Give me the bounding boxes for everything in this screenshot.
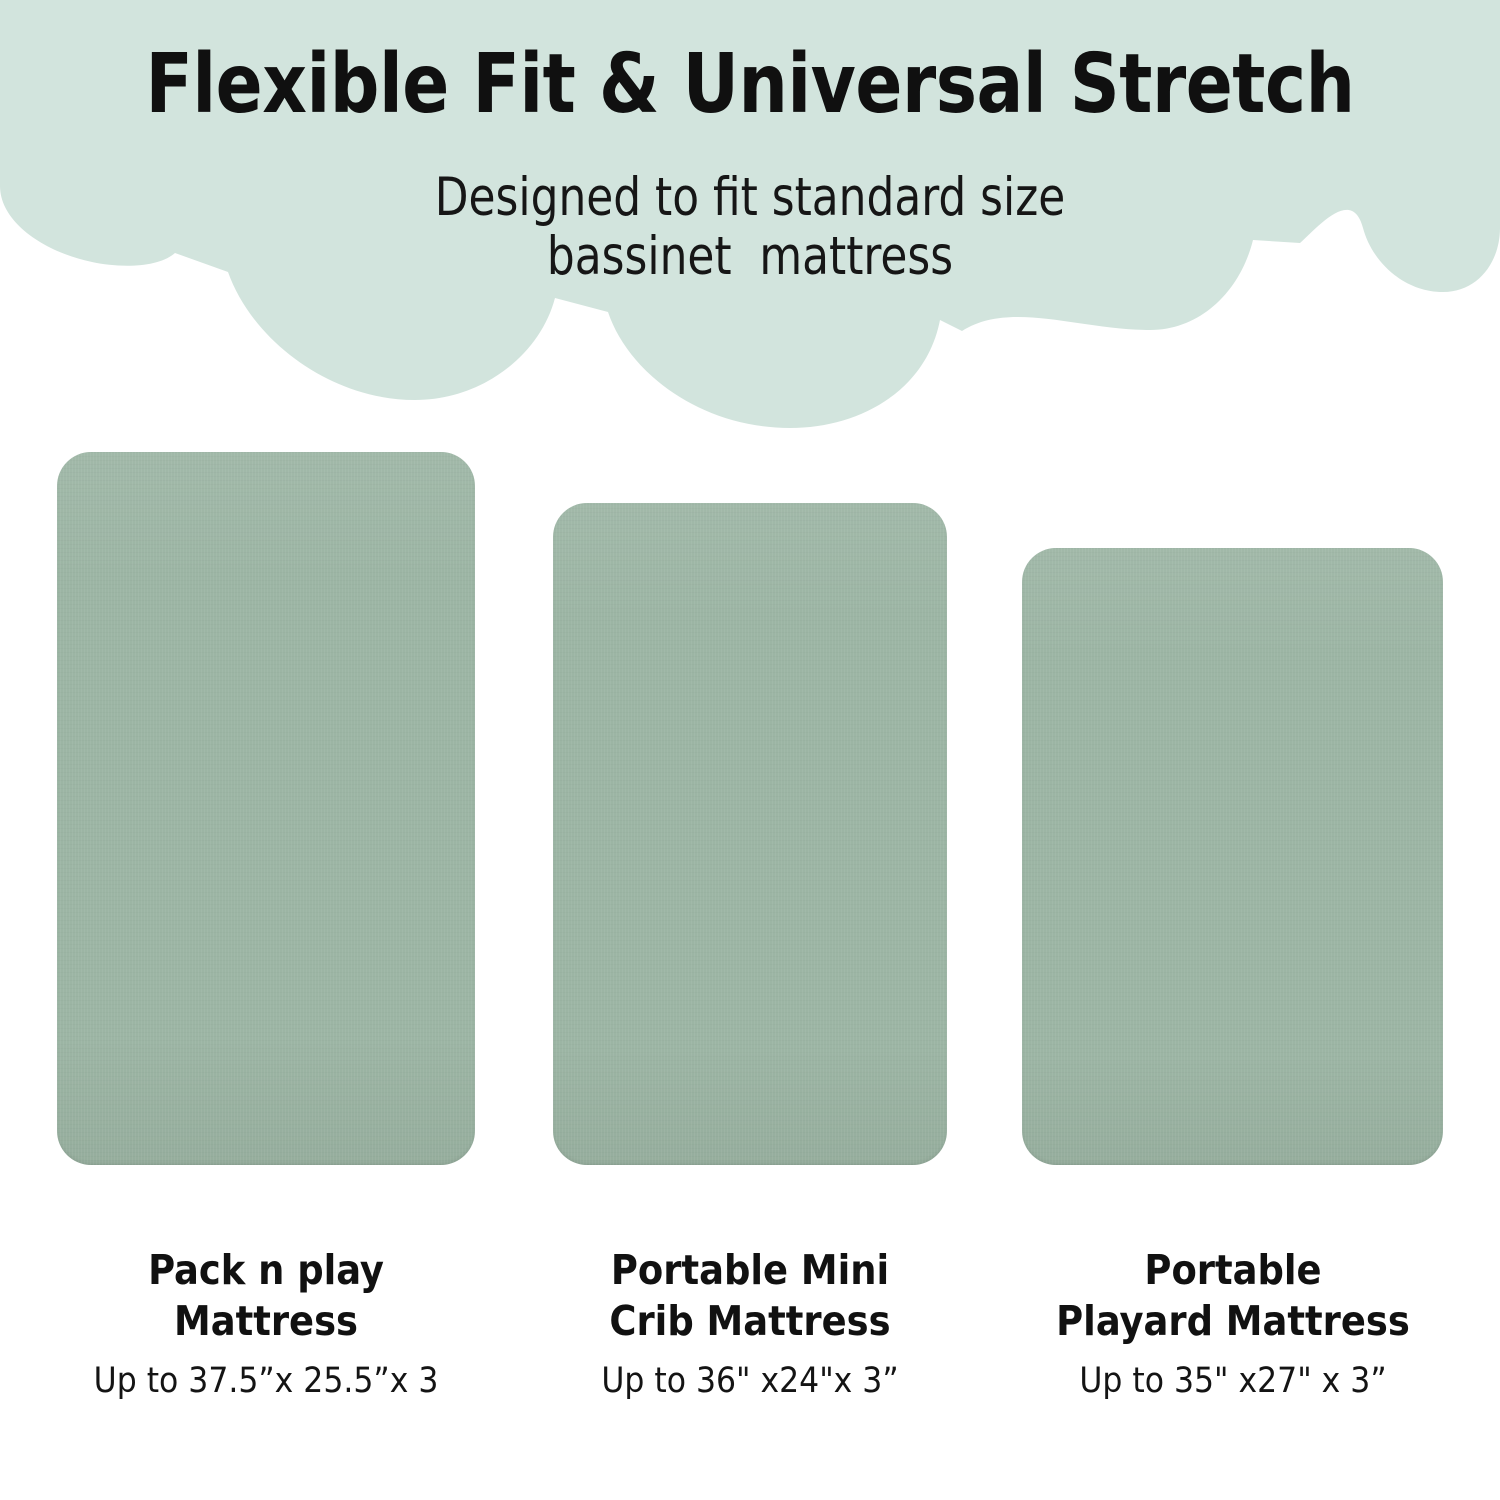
mattress-comparison-row: Pack n play Mattress Up to 37.5”x 25.5”x… [0,0,1500,1500]
mattress-label-pack-n-play: Pack n play Mattress [36,1245,496,1347]
mattress-size-pack-n-play: Up to 37.5”x 25.5”x 3 [36,1360,496,1402]
mattress-swatch-portable-mini-crib [553,503,947,1165]
mattress-label-portable-playard: Portable Playard Mattress [1002,1245,1464,1347]
mattress-swatch-pack-n-play [57,452,475,1165]
mattress-size-portable-mini-crib: Up to 36" x24"x 3” [520,1360,980,1402]
mattress-swatch-portable-playard [1022,548,1443,1165]
product-infographic: Flexible Fit & Universal Stretch Designe… [0,0,1500,1500]
mattress-label-portable-mini-crib: Portable Mini Crib Mattress [520,1245,980,1347]
mattress-size-portable-playard: Up to 35" x27" x 3” [1002,1360,1464,1402]
